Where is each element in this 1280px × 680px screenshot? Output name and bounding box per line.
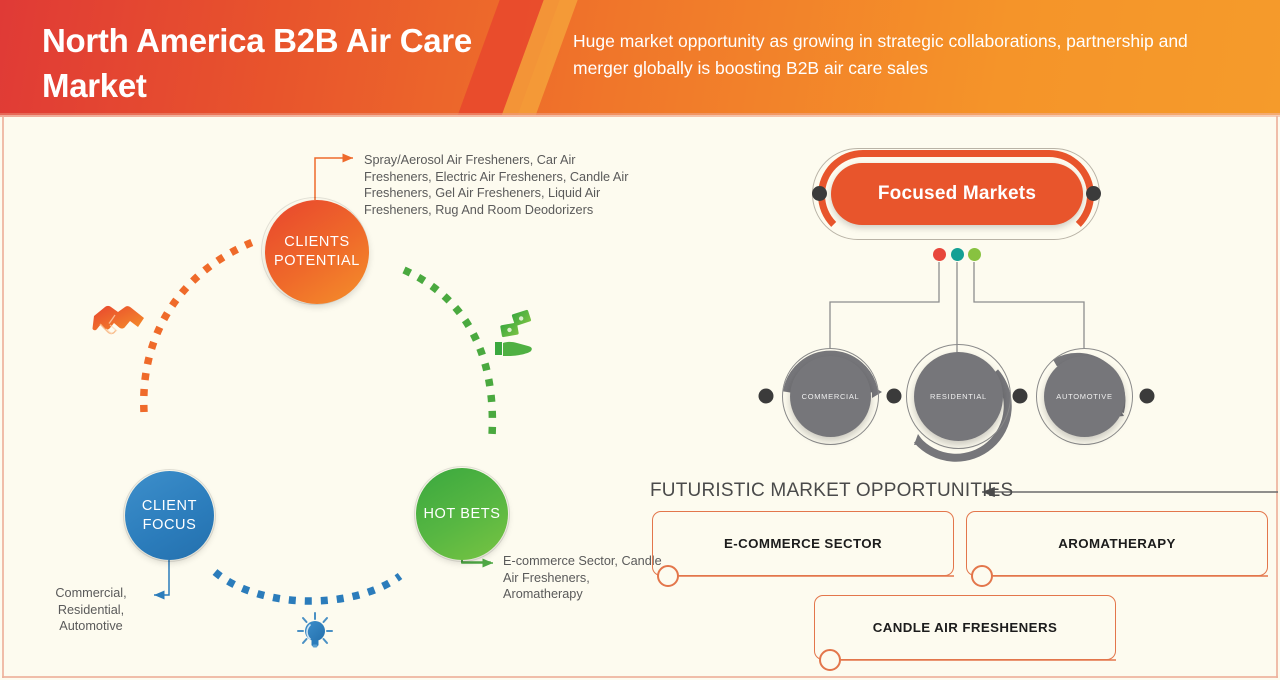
opportunity-label-ecommerce: E-COMMERCE SECTOR <box>724 536 882 551</box>
handshake-icon <box>93 306 145 334</box>
opportunity-knob-aromatherapy <box>971 565 993 587</box>
focused-markets-knob-left <box>812 186 827 201</box>
connector-client-focus <box>154 560 169 595</box>
market-label-automotive: AUTOMOTIVE <box>1056 392 1112 401</box>
page-title: North America B2B Air Care Market <box>42 18 512 108</box>
futuristic-section-title: FUTURISTIC MARKET OPPORTUNITIES <box>650 480 1013 502</box>
opportunity-box-aromatherapy[interactable]: AROMATHERAPY <box>966 511 1268 576</box>
money-in-hand-icon <box>495 310 532 356</box>
indicator-dot-red <box>933 248 946 261</box>
market-circle-automotive-core: AUTOMOTIVE <box>1044 356 1125 437</box>
market-label-commercial: COMMERCIAL <box>802 392 860 401</box>
focused-markets-pill[interactable]: Focused Markets <box>831 163 1083 225</box>
market-circle-commercial-core: COMMERCIAL <box>790 356 871 437</box>
node-clients-potential[interactable]: CLIENTS POTENTIAL <box>265 200 369 304</box>
dotted-arc-blue <box>215 572 400 601</box>
header-subtitle: Huge market opportunity as growing in st… <box>573 28 1233 82</box>
lightbulb-icon <box>298 613 332 648</box>
header-banner: North America B2B Air Care Market Huge m… <box>0 0 1280 115</box>
dotted-arc-green <box>404 270 492 436</box>
opportunity-box-ecommerce[interactable]: E-COMMERCE SECTOR <box>652 511 954 576</box>
focused-markets-label: Focused Markets <box>878 183 1036 205</box>
infographic-page: North America B2B Air Care Market Huge m… <box>0 0 1280 680</box>
opportunity-box-candle-air-fresheners[interactable]: CANDLE AIR FRESHENERS <box>814 595 1116 660</box>
callout-client-focus: Commercial, Residential, Automotive <box>36 585 146 635</box>
market-circle-residential-core: RESIDENTIAL <box>914 352 1003 441</box>
callout-clients-potential: Spray/Aerosol Air Fresheners, Car Air Fr… <box>364 152 632 218</box>
opportunity-knob-candle-air-fresheners <box>819 649 841 671</box>
indicator-dot-green <box>968 248 981 261</box>
node-hot-bets[interactable]: HOT BETS <box>416 468 508 560</box>
opportunity-label-candle-air-fresheners: CANDLE AIR FRESHENERS <box>873 620 1057 635</box>
opportunity-knob-ecommerce <box>657 565 679 587</box>
page-border-right <box>1276 116 1278 678</box>
node-clients-potential-label: CLIENTS POTENTIAL <box>265 233 369 271</box>
connector-clients-potential <box>315 158 353 200</box>
node-client-focus[interactable]: CLIENT FOCUS <box>125 471 214 560</box>
header-underline <box>0 113 1280 117</box>
dotted-arc-orange <box>144 240 258 412</box>
callout-hot-bets: E-commerce Sector, Candle Air Fresheners… <box>503 553 663 603</box>
indicator-dot-teal <box>951 248 964 261</box>
market-label-residential: RESIDENTIAL <box>930 392 987 401</box>
opportunity-label-aromatherapy: AROMATHERAPY <box>1058 536 1176 551</box>
focused-markets-knob-right <box>1086 186 1101 201</box>
node-client-focus-label: CLIENT FOCUS <box>125 497 214 535</box>
node-hot-bets-label: HOT BETS <box>423 505 500 524</box>
page-border-left <box>2 116 4 678</box>
page-border-bottom <box>2 676 1278 678</box>
